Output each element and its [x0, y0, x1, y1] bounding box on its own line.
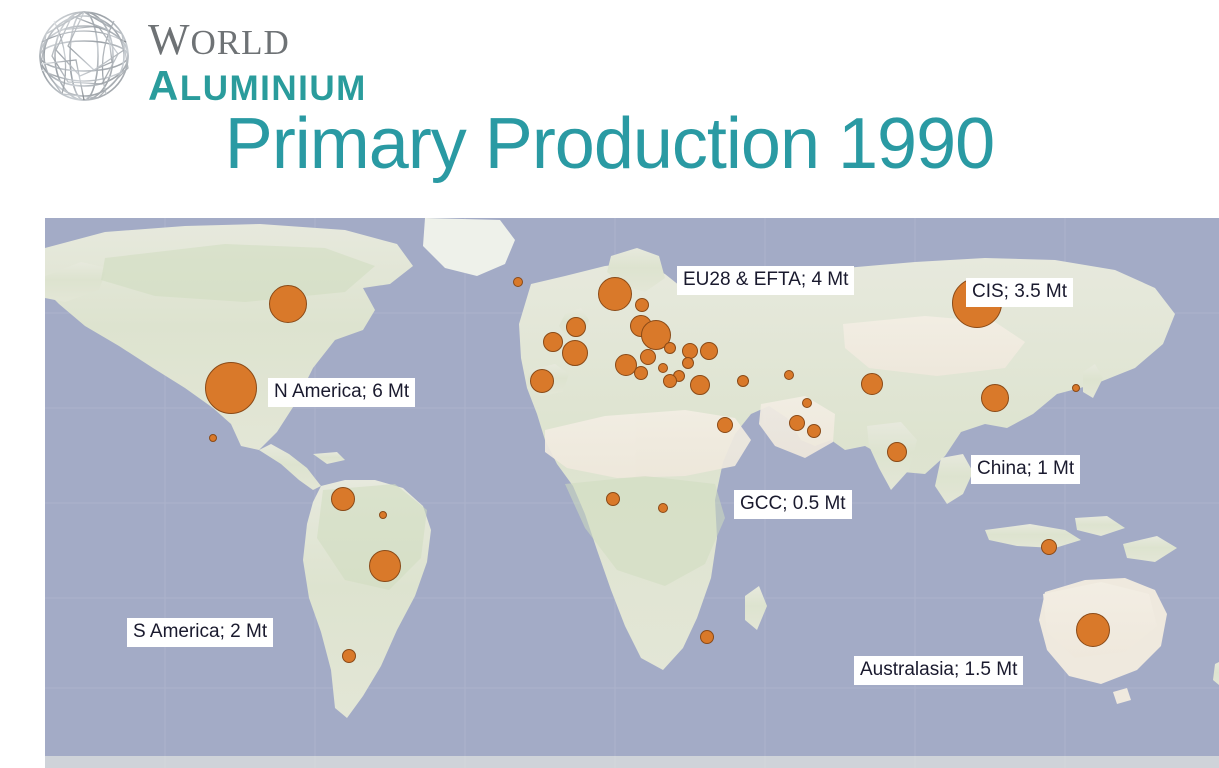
production-bubble-slovenia [663, 374, 677, 388]
brand-word-aluminium-rest: LUMINIUM [180, 69, 367, 108]
map-label-n-america: N America; 6 Mt [268, 378, 415, 407]
production-bubble-uae [807, 424, 821, 438]
production-bubble-mexico [209, 434, 217, 442]
production-bubble-romania [700, 342, 718, 360]
production-bubble-suriname [379, 511, 387, 519]
brand-logo: WORLD ALUMINIUM [30, 4, 390, 104]
production-bubble-austria [658, 363, 668, 373]
production-bubble-india [887, 442, 907, 462]
production-bubble-turkey [737, 375, 749, 387]
production-bubble-brazil [369, 550, 401, 582]
production-bubble-ghana [606, 492, 620, 506]
production-bubble-switzerland [640, 349, 656, 365]
production-bubble-tajikistan [861, 373, 883, 395]
world-map: EU28 & EFTA; 4 MtCIS; 3.5 MtN America; 6… [45, 218, 1219, 768]
production-bubble-argentina [342, 649, 356, 663]
production-bubble-azerbaijan [784, 370, 794, 380]
production-bubble-cameroon [658, 503, 668, 513]
production-bubble-italys [634, 366, 648, 380]
production-bubble-frances [562, 340, 588, 366]
production-bubble-usa [205, 362, 257, 414]
production-bubble-slovakia [682, 357, 694, 369]
header-band: WORLD ALUMINIUM Primary Production 1990 [0, 0, 1219, 218]
map-label-cis: CIS; 3.5 Mt [966, 278, 1073, 307]
production-bubble-czechia [664, 342, 676, 354]
brand-wordmark: WORLD ALUMINIUM [148, 18, 367, 108]
production-bubble-greece [690, 375, 710, 395]
production-bubble-iceland [513, 277, 523, 287]
brand-word-aluminium-initial: A [148, 62, 180, 109]
production-bubble-france [543, 332, 563, 352]
production-bubble-australia [1076, 613, 1110, 647]
production-bubble-norways [635, 298, 649, 312]
brand-word-aluminium: ALUMINIUM [148, 64, 367, 108]
map-label-china: China; 1 Mt [971, 455, 1080, 484]
brand-word-world-rest: ORLD [191, 23, 290, 62]
production-bubble-indonesia [1041, 539, 1057, 555]
production-bubble-venezuela [331, 487, 355, 511]
production-bubble-egypt [717, 417, 733, 433]
production-bubble-japan [1072, 384, 1080, 392]
production-bubble-spain [530, 369, 554, 393]
brand-word-world: WORLD [148, 18, 367, 62]
production-bubble-norway [598, 277, 632, 311]
production-bubble-uk [566, 317, 586, 337]
production-bubble-china [981, 384, 1009, 412]
page-title: Primary Production 1990 [0, 108, 1219, 180]
brand-word-world-initial: W [148, 15, 191, 64]
production-bubble-canada [269, 285, 307, 323]
map-label-gcc: GCC; 0.5 Mt [734, 490, 852, 519]
map-label-australasia: Australasia; 1.5 Mt [854, 656, 1023, 685]
production-bubble-iran [802, 398, 812, 408]
wireframe-globe-icon [32, 6, 136, 106]
production-bubble-mozambique [700, 630, 714, 644]
production-bubble-bahrain [789, 415, 805, 431]
map-label-eu28-efta: EU28 & EFTA; 4 Mt [677, 266, 854, 295]
map-label-s-america: S America; 2 Mt [127, 618, 273, 647]
